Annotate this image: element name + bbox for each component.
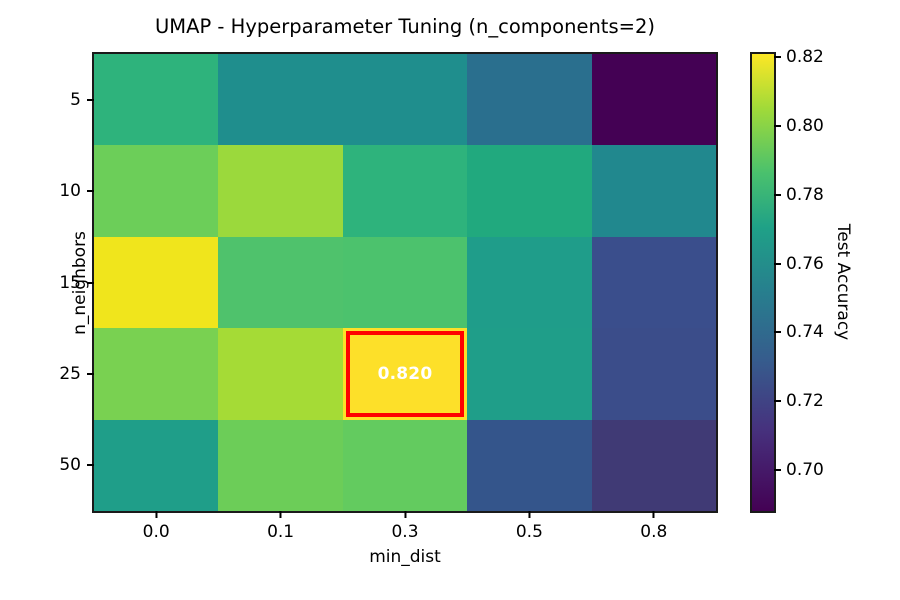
colorbar-tick-mark [774, 400, 781, 402]
heatmap-cell [592, 237, 716, 328]
figure-canvas: UMAP - Hyperparameter Tuning (n_componen… [0, 0, 900, 600]
heatmap-cell [467, 54, 591, 145]
x-tick: 0.1 [267, 511, 294, 542]
colorbar-tick: 0.70 [774, 460, 824, 480]
x-tick-mark [280, 511, 282, 518]
x-tick-label: 0.0 [143, 518, 170, 542]
chart-title: UMAP - Hyperparameter Tuning (n_componen… [92, 14, 718, 40]
heatmap-grid: 0.820 [94, 54, 716, 511]
x-tick-mark [155, 511, 157, 518]
heatmap-cell-value: 0.820 [343, 328, 467, 419]
heatmap-cell [94, 328, 218, 419]
x-tick-label: 0.3 [391, 518, 418, 542]
x-tick-mark [528, 511, 530, 518]
x-tick-mark [404, 511, 406, 518]
colorbar-tick-label: 0.78 [781, 185, 824, 205]
y-tick-label: 10 [59, 181, 87, 201]
colorbar-tick-mark [774, 194, 781, 196]
heatmap-cell [343, 145, 467, 236]
heatmap-cell [218, 54, 342, 145]
y-tick: 50 [59, 455, 94, 475]
heatmap-cell [94, 237, 218, 328]
y-tick-mark [87, 190, 94, 192]
heatmap-cell: 0.820 [343, 328, 467, 419]
heatmap-axes: 0.820 510152550 0.00.10.30.50.8 n_neighb… [92, 52, 718, 513]
heatmap-cell [343, 420, 467, 511]
colorbar-tick-mark [774, 125, 781, 127]
heatmap-cell [592, 145, 716, 236]
heatmap-cell [467, 420, 591, 511]
x-tick: 0.8 [640, 511, 667, 542]
colorbar-tick-label: 0.80 [781, 116, 824, 136]
colorbar-tick-mark [774, 263, 781, 265]
y-axis-label: n_neighbors [70, 231, 90, 335]
colorbar-tick-label: 0.74 [781, 322, 824, 342]
heatmap-cell [218, 420, 342, 511]
x-tick-label: 0.8 [640, 518, 667, 542]
x-tick: 0.5 [516, 511, 543, 542]
heatmap-cell [592, 420, 716, 511]
y-tick-mark [87, 464, 94, 466]
x-axis-label: min_dist [94, 547, 716, 567]
colorbar-tick-mark [774, 56, 781, 58]
colorbar-tick-label: 0.76 [781, 254, 824, 274]
x-tick: 0.0 [143, 511, 170, 542]
heatmap-cell [467, 145, 591, 236]
colorbar-label: Test Accuracy [833, 224, 853, 341]
heatmap-cell [218, 328, 342, 419]
y-tick-label: 50 [59, 455, 87, 475]
colorbar-tick-label: 0.72 [781, 391, 824, 411]
y-tick: 25 [59, 364, 94, 384]
colorbar: 0.820.800.780.760.740.720.70 [750, 52, 776, 513]
colorbar-tick: 0.82 [774, 47, 824, 67]
heatmap-cell [94, 54, 218, 145]
colorbar-tick: 0.76 [774, 254, 824, 274]
heatmap-cell [343, 237, 467, 328]
x-tick-mark [653, 511, 655, 518]
x-tick: 0.3 [391, 511, 418, 542]
colorbar-tick-mark [774, 331, 781, 333]
x-tick-label: 0.1 [267, 518, 294, 542]
heatmap-cell [467, 328, 591, 419]
y-tick: 5 [70, 90, 94, 110]
colorbar-tick-label: 0.70 [781, 460, 824, 480]
heatmap-cell [94, 420, 218, 511]
y-tick-mark [87, 99, 94, 101]
colorbar-tick-mark [774, 469, 781, 471]
y-tick-label: 25 [59, 364, 87, 384]
heatmap-cell [218, 145, 342, 236]
colorbar-tick: 0.72 [774, 391, 824, 411]
colorbar-tick: 0.78 [774, 185, 824, 205]
heatmap-cell [592, 328, 716, 419]
colorbar-tick-label: 0.82 [781, 47, 824, 67]
heatmap-cell [592, 54, 716, 145]
x-tick-label: 0.5 [516, 518, 543, 542]
heatmap-cell [94, 145, 218, 236]
colorbar-tick: 0.74 [774, 322, 824, 342]
y-tick: 10 [59, 181, 94, 201]
heatmap-cell [218, 237, 342, 328]
heatmap-cell [467, 237, 591, 328]
y-tick-label: 5 [70, 90, 87, 110]
heatmap-cell [343, 54, 467, 145]
colorbar-tick: 0.80 [774, 116, 824, 136]
y-tick-mark [87, 373, 94, 375]
